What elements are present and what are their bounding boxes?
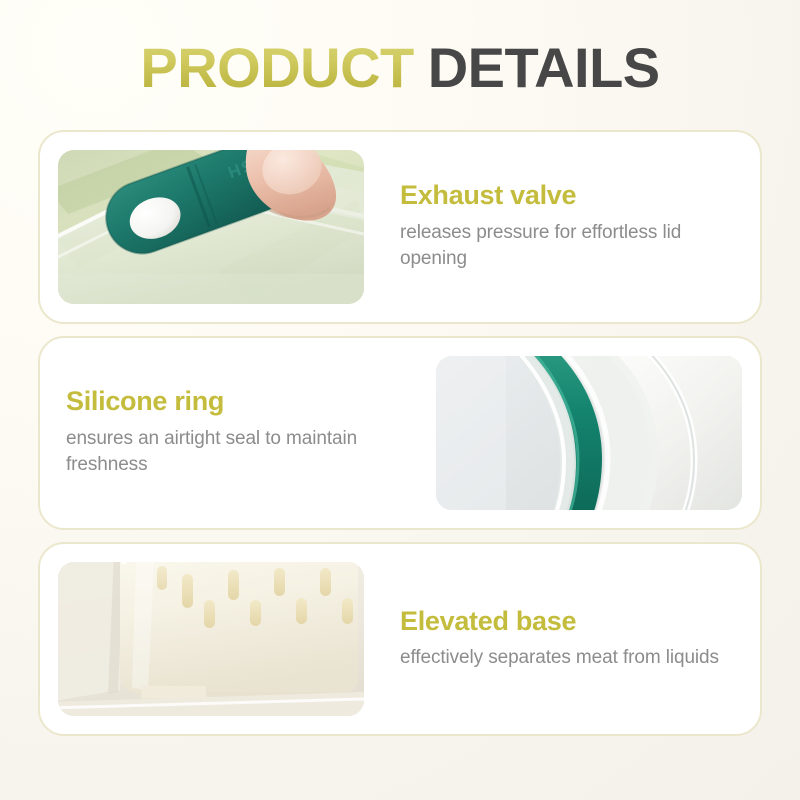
- page-title-rest: DETAILS: [428, 36, 660, 99]
- feature-card-silicone-ring[interactable]: Silicone ring ensures an airtight seal t…: [38, 336, 762, 530]
- silicone-ring-photo: [436, 356, 742, 510]
- feature-text-block: Elevated base effectively separates meat…: [382, 607, 760, 672]
- silicone-ring-illustration: [436, 356, 742, 510]
- feature-card-list: PUSH Exhaust valve releases pressure for…: [0, 130, 800, 736]
- feature-description: effectively separates meat from liquids: [400, 645, 720, 671]
- feature-text-block: Silicone ring ensures an airtight seal t…: [40, 387, 418, 478]
- page-title-highlight: PRODUCT: [140, 36, 413, 99]
- feature-card-exhaust-valve[interactable]: PUSH Exhaust valve releases pressure for…: [38, 130, 762, 324]
- feature-description: releases pressure for effortless lid ope…: [400, 220, 720, 272]
- elevated-base-photo: [58, 562, 364, 716]
- exhaust-valve-illustration: PUSH: [58, 150, 364, 304]
- feature-card-elevated-base[interactable]: Elevated base effectively separates meat…: [38, 542, 762, 736]
- feature-title: Exhaust valve: [400, 181, 746, 211]
- page-header: PRODUCTDETAILS: [0, 0, 800, 130]
- feature-text-block: Exhaust valve releases pressure for effo…: [382, 181, 760, 272]
- feature-title: Silicone ring: [66, 387, 400, 417]
- exhaust-valve-photo: PUSH: [58, 150, 364, 304]
- feature-title: Elevated base: [400, 607, 746, 637]
- page-title: PRODUCTDETAILS: [140, 40, 659, 96]
- elevated-base-illustration: [58, 562, 364, 716]
- feature-description: ensures an airtight seal to maintain fre…: [66, 426, 386, 478]
